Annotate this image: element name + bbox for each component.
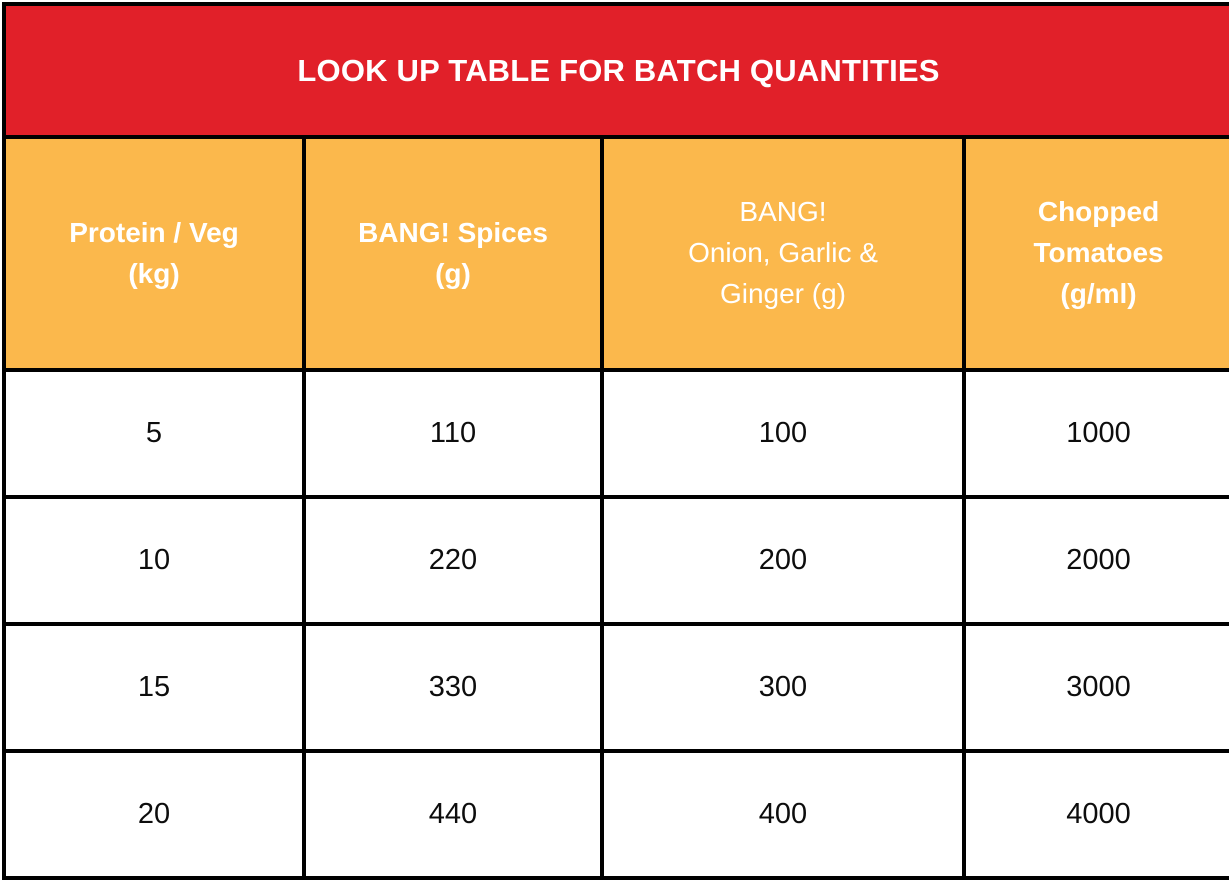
- cell-bang-spices: 220: [304, 497, 602, 624]
- cell-value: 1000: [966, 416, 1229, 451]
- table-row: 10 220 200 2000: [4, 497, 1229, 624]
- table-row: 20 440 400 4000: [4, 751, 1229, 878]
- cell-value: 3000: [966, 670, 1229, 705]
- title-row: LOOK UP TABLE FOR BATCH QUANTITIES: [4, 4, 1229, 137]
- cell-value: 440: [306, 797, 600, 832]
- cell-value: 110: [306, 416, 600, 451]
- cell-value: 2000: [966, 543, 1229, 578]
- cell-value: 400: [604, 797, 962, 832]
- cell-bang-onion-garlic-ginger: 200: [602, 497, 964, 624]
- cell-chopped-tomatoes: 1000: [964, 370, 1229, 497]
- column-header-chopped-tomatoes-line3: (g/ml): [966, 274, 1229, 315]
- cell-protein-veg: 10: [4, 497, 304, 624]
- column-header-chopped-tomatoes: Chopped Tomatoes (g/ml): [964, 137, 1229, 370]
- column-header-protein-veg-line1: Protein / Veg: [6, 213, 302, 254]
- cell-protein-veg: 5: [4, 370, 304, 497]
- cell-value: 300: [604, 670, 962, 705]
- table-row: 5 110 100 1000: [4, 370, 1229, 497]
- cell-bang-spices: 330: [304, 624, 602, 751]
- cell-value: 20: [6, 797, 302, 832]
- cell-protein-veg: 20: [4, 751, 304, 878]
- column-header-bang-onion-garlic-ginger-line3: Ginger (g): [604, 274, 962, 315]
- cell-value: 15: [6, 670, 302, 705]
- column-header-bang-spices-line2: (g): [306, 254, 600, 295]
- lookup-table-sheet: LOOK UP TABLE FOR BATCH QUANTITIES Prote…: [0, 0, 1229, 873]
- batch-quantities-table: LOOK UP TABLE FOR BATCH QUANTITIES Prote…: [2, 2, 1229, 880]
- cell-protein-veg: 15: [4, 624, 304, 751]
- cell-bang-onion-garlic-ginger: 300: [602, 624, 964, 751]
- cell-value: 220: [306, 543, 600, 578]
- column-header-chopped-tomatoes-line2: Tomatoes: [966, 233, 1229, 274]
- cell-value: 10: [6, 543, 302, 578]
- column-header-protein-veg: Protein / Veg (kg): [4, 137, 304, 370]
- cell-chopped-tomatoes: 2000: [964, 497, 1229, 624]
- cell-chopped-tomatoes: 4000: [964, 751, 1229, 878]
- cell-bang-spices: 440: [304, 751, 602, 878]
- cell-value: 5: [6, 416, 302, 451]
- cell-chopped-tomatoes: 3000: [964, 624, 1229, 751]
- cell-value: 330: [306, 670, 600, 705]
- table-title-cell: LOOK UP TABLE FOR BATCH QUANTITIES: [4, 4, 1229, 137]
- column-header-bang-onion-garlic-ginger: BANG! Onion, Garlic & Ginger (g): [602, 137, 964, 370]
- cell-bang-onion-garlic-ginger: 100: [602, 370, 964, 497]
- column-header-row: Protein / Veg (kg) BANG! Spices (g) BANG…: [4, 137, 1229, 370]
- cell-value: 100: [604, 416, 962, 451]
- column-header-protein-veg-line2: (kg): [6, 254, 302, 295]
- column-header-chopped-tomatoes-line1: Chopped: [966, 192, 1229, 233]
- cell-value: 4000: [966, 797, 1229, 832]
- column-header-bang-onion-garlic-ginger-line1: BANG!: [604, 192, 962, 233]
- column-header-bang-spices: BANG! Spices (g): [304, 137, 602, 370]
- table-title: LOOK UP TABLE FOR BATCH QUANTITIES: [6, 52, 1229, 88]
- cell-bang-spices: 110: [304, 370, 602, 497]
- cell-value: 200: [604, 543, 962, 578]
- column-header-bang-spices-line1: BANG! Spices: [306, 213, 600, 254]
- cell-bang-onion-garlic-ginger: 400: [602, 751, 964, 878]
- column-header-bang-onion-garlic-ginger-line2: Onion, Garlic &: [604, 233, 962, 274]
- table-row: 15 330 300 3000: [4, 624, 1229, 751]
